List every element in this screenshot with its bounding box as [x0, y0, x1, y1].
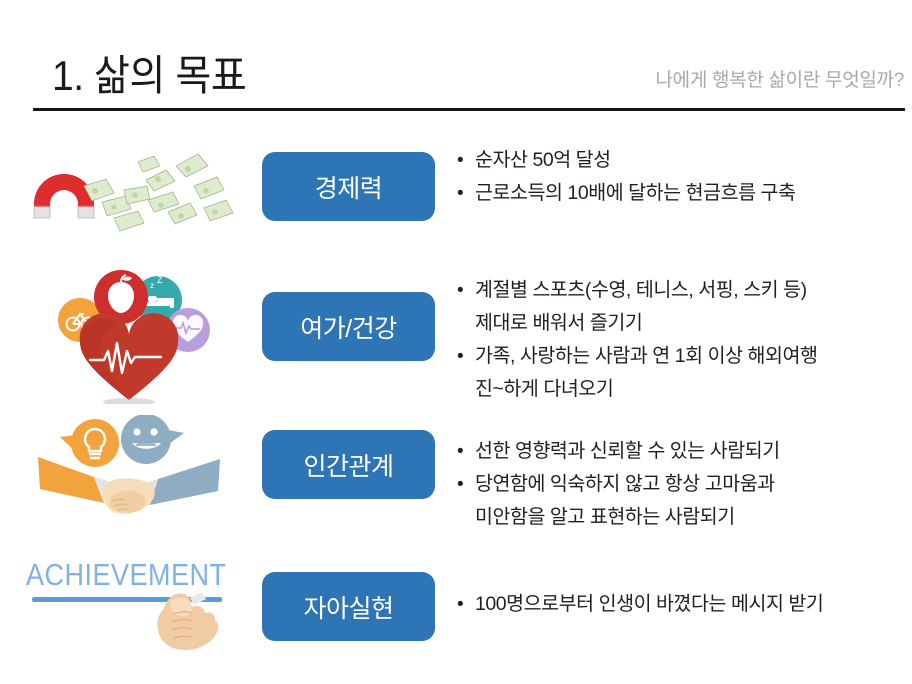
- category-label-box[interactable]: 경제력: [262, 152, 435, 221]
- bullet-dot: •: [457, 435, 463, 468]
- category-label-text: 인간관계: [303, 447, 393, 483]
- magnet-money-illustration: [18, 138, 240, 238]
- category-label-text: 자아실현: [303, 589, 393, 625]
- bullet-line: 당연함에 익숙하지 않고 항상 고마움과: [475, 468, 907, 501]
- heart-health-illustration: z Z: [18, 252, 240, 404]
- bullet-list: • 순자산 50억 달성 • 근로소득의 10배에 달하는 현금흐름 구축: [455, 144, 907, 210]
- bullet-line: 계절별 스포츠(수영, 테니스, 서핑, 스키 등): [475, 274, 907, 307]
- bullet-dot: •: [457, 274, 463, 307]
- slide-subtitle: 나에게 행복한 삶이란 무엇일까?: [655, 68, 904, 94]
- bullet-list: • 100명으로부터 인생이 바꼈다는 메시지 받기: [455, 588, 907, 621]
- bullet-line: 100명으로부터 인생이 바꼈다는 메시지 받기: [475, 588, 907, 621]
- content-row: ACHIEVEMENT 자아실현 • 100명으로부터 인생: [0, 552, 912, 662]
- heart-health-icons-image: z Z: [18, 252, 240, 404]
- magnet-attracting-money-image: [18, 138, 240, 238]
- svg-text:Z: Z: [157, 275, 163, 285]
- bullet-line: 제대로 배워서 즐기기: [475, 307, 907, 340]
- bullet-line: 근로소득의 10배에 달하는 현금흐름 구축: [475, 177, 907, 210]
- bullet-dot: •: [457, 588, 463, 621]
- bullet-list: • 계절별 스포츠(수영, 테니스, 서핑, 스키 등) 제대로 배워서 즐기기…: [455, 274, 907, 406]
- list-item: • 순자산 50억 달성: [455, 144, 907, 177]
- slide-header: 1. 삶의 목표 나에게 행복한 삶이란 무엇일까?: [0, 0, 912, 115]
- category-label-box[interactable]: 인간관계: [262, 430, 435, 499]
- slide-canvas: 1. 삶의 목표 나에게 행복한 삶이란 무엇일까?: [0, 0, 912, 684]
- list-item: • 100명으로부터 인생이 바꼈다는 메시지 받기: [455, 588, 907, 621]
- hand-drawing-illustration: [14, 552, 240, 652]
- bullet-list: • 선한 영향력과 신뢰할 수 있는 사람되기 • 당연함에 익숙하지 않고 항…: [455, 435, 907, 534]
- bullet-dot: •: [457, 144, 463, 177]
- category-label-box[interactable]: 여가/건강: [262, 292, 435, 361]
- bullet-dot: •: [457, 340, 463, 373]
- title-divider: [33, 108, 905, 111]
- list-item: • 가족, 사랑하는 사람과 연 1회 이상 해외여행 진~하게 다녀오기: [455, 340, 907, 406]
- svg-text:z: z: [150, 281, 154, 290]
- content-row: 경제력 • 순자산 50억 달성 • 근로소득의 10배에 달하는 현금흐름 구…: [0, 130, 912, 248]
- handshake-speech-bubbles-image: [18, 415, 240, 537]
- category-label-text: 경제력: [315, 169, 383, 205]
- bullet-line: 선한 영향력과 신뢰할 수 있는 사람되기: [475, 435, 907, 468]
- content-row: 인간관계 • 선한 영향력과 신뢰할 수 있는 사람되기 • 당연함에 익숙하지…: [0, 415, 912, 540]
- bullet-line: 가족, 사랑하는 사람과 연 1회 이상 해외여행: [475, 340, 907, 373]
- handshake-illustration: [18, 415, 240, 537]
- list-item: • 근로소득의 10배에 달하는 현금흐름 구축: [455, 177, 907, 210]
- list-item: • 계절별 스포츠(수영, 테니스, 서핑, 스키 등) 제대로 배워서 즐기기: [455, 274, 907, 340]
- bullet-dot: •: [457, 177, 463, 210]
- bullet-line: 진~하게 다녀오기: [475, 373, 907, 406]
- category-label-text: 여가/건강: [300, 309, 396, 345]
- bullet-line: 미안함을 알고 표현하는 사람되기: [475, 501, 907, 534]
- category-label-box[interactable]: 자아실현: [262, 572, 435, 641]
- achievement-handwriting-image: ACHIEVEMENT: [14, 552, 240, 652]
- bullet-line: 순자산 50억 달성: [475, 144, 907, 177]
- list-item: • 선한 영향력과 신뢰할 수 있는 사람되기: [455, 435, 907, 468]
- bullet-dot: •: [457, 468, 463, 501]
- content-row: z Z 여가/건강: [0, 252, 912, 410]
- page-title: 1. 삶의 목표: [52, 50, 246, 102]
- list-item: • 당연함에 익숙하지 않고 항상 고마움과 미안함을 알고 표현하는 사람되기: [455, 468, 907, 534]
